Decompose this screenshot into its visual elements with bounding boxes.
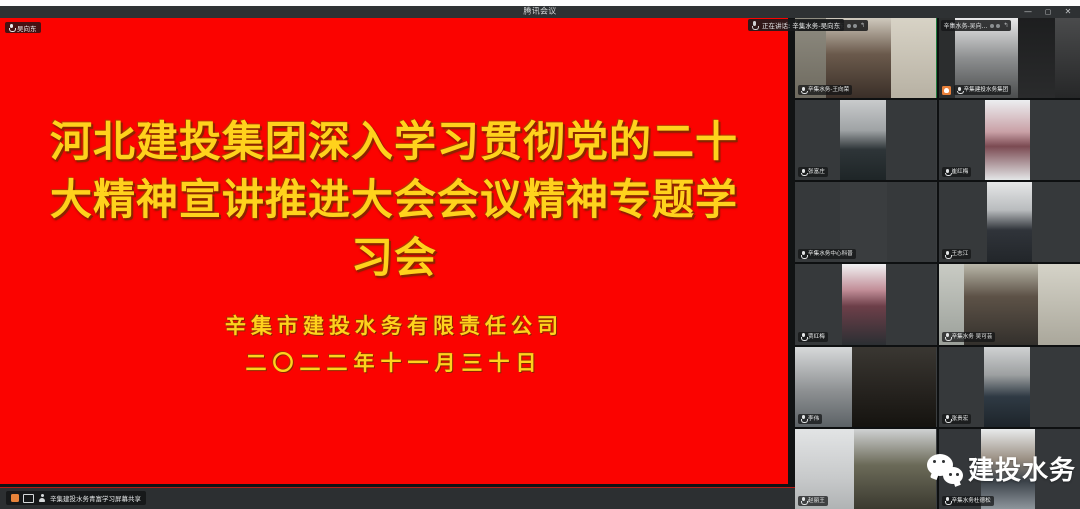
participant-tile[interactable]: 辛集水务中心科普 — [795, 182, 937, 262]
maximize-button[interactable]: ▢ — [1038, 6, 1058, 18]
microphone-icon — [801, 333, 806, 340]
title-bar: 腾讯会议 — [0, 6, 1080, 18]
microphone-icon — [945, 251, 950, 258]
app-title: 腾讯会议 — [523, 6, 556, 18]
participant-name-chip: 辛集水务-王向荣 — [798, 85, 852, 95]
microphone-icon — [945, 415, 950, 422]
more-options-icon[interactable] — [990, 24, 1000, 28]
slide-organization: 辛集市建投水务有限责任公司 — [44, 309, 744, 344]
participant-name: 赵丽王 — [808, 496, 825, 506]
participant-name-chip: 贾红梅 — [798, 332, 828, 342]
participant-tile[interactable]: 辛集水务 吴可芸 — [939, 264, 1080, 344]
participant-name-chip: 李伟 — [798, 414, 822, 424]
microphone-icon — [801, 251, 806, 258]
presenter-chip: 吴向东 — [5, 22, 41, 33]
screen-icon — [23, 494, 34, 503]
participant-name: 辛集水务-王向荣 — [808, 85, 849, 95]
participant-name: 李伟 — [808, 414, 819, 424]
stage-divider — [0, 487, 795, 488]
orange-square-icon — [11, 494, 19, 502]
participant-tile[interactable]: 王志江 — [939, 182, 1080, 262]
participant-grid: 辛集水务-王向荣 辛集水务-吴向东 ↰ 辛集建投水务集团 辛集水务-吴向... — [795, 18, 1080, 509]
participant-name: 张贵宏 — [952, 414, 969, 424]
speaking-mic-icon — [752, 21, 758, 29]
microphone-icon — [801, 497, 806, 504]
bottom-status-bar: 辛集建投水务青富学习屏幕共享 — [0, 487, 795, 509]
microphone-icon — [945, 169, 950, 176]
participant-name-chip: 张贵宏 — [942, 414, 972, 424]
slide-body: 河北建投集团深入学习贯彻党的二十大精神宣讲推进大会会议精神专题学习会 辛集市建投… — [0, 18, 788, 484]
participant-name-chip: 辛集水务中心科普 — [798, 249, 856, 259]
more-options-icon[interactable] — [847, 24, 857, 28]
participant-name: 辛集水务 吴可芸 — [952, 332, 993, 342]
microphone-icon — [945, 497, 950, 504]
shared-screen-stage[interactable]: 河北建投集团深入学习贯彻党的二十大精神宣讲推进大会会议精神专题学习会 辛集市建投… — [0, 18, 795, 487]
microphone-icon — [945, 333, 950, 340]
microphone-icon — [957, 87, 962, 94]
participant-name: 贾红梅 — [808, 332, 825, 342]
collapse-icon[interactable]: ↰ — [1003, 22, 1008, 29]
participant-tile[interactable]: 张贵宏 — [939, 347, 1080, 427]
presentation-slide: 河北建投集团深入学习贯彻党的二十大精神宣讲推进大会会议精神专题学习会 辛集市建投… — [0, 18, 788, 484]
participant-name-chip: 崔红梅 — [942, 167, 972, 177]
participant-name: 王志江 — [952, 249, 969, 259]
speaking-banner: 正在讲话: 辛集水务-吴向东 — [748, 19, 844, 31]
participant-tile[interactable]: 贾红梅 — [795, 264, 937, 344]
window-controls: — ▢ ✕ — [1018, 6, 1078, 18]
tile-header-text: 辛集水务-吴向... — [944, 21, 988, 30]
participant-name-chip: 赵丽王 — [798, 496, 828, 506]
participant-name-chip: 王志江 — [942, 249, 972, 259]
slide-date: 二〇二二年十一月三十日 — [44, 346, 744, 381]
participant-tile[interactable]: 李伟 — [795, 347, 937, 427]
participant-tile[interactable]: 崔红梅 — [939, 100, 1080, 180]
host-badge-icon — [942, 86, 951, 95]
participant-tile[interactable]: 辛集建投水务集团 辛集水务-吴向... ↰ — [939, 18, 1080, 98]
close-button[interactable]: ✕ — [1058, 6, 1078, 18]
participant-name: 辛集建投水务集团 — [964, 85, 1009, 95]
participant-tile[interactable]: 张富庄 — [795, 100, 937, 180]
screen-share-text: 辛集建投水务青富学习屏幕共享 — [50, 493, 141, 503]
collapse-icon[interactable]: ↰ — [860, 22, 865, 29]
participant-name: 辛集水务中心科普 — [808, 249, 853, 259]
person-icon — [38, 494, 46, 502]
participant-name-chip: 辛集水务杜德松 — [942, 496, 994, 506]
microphone-icon — [9, 24, 14, 31]
participant-name-chip: 张富庄 — [798, 167, 828, 177]
tencent-meeting-window: 腾讯会议 — ▢ ✕ 河北建投集团深入学习贯彻党的二十大精神宣讲推进大会会议精神… — [0, 0, 1080, 509]
presenter-name: 吴向东 — [17, 23, 37, 33]
participant-name: 张富庄 — [808, 167, 825, 177]
participant-tile[interactable]: 赵丽王 — [795, 429, 937, 509]
microphone-icon — [801, 87, 806, 94]
microphone-icon — [801, 169, 806, 176]
tile-header: 辛集水务-吴向... ↰ — [941, 20, 1012, 31]
screen-share-indicator[interactable]: 辛集建投水务青富学习屏幕共享 — [6, 491, 146, 505]
participant-name-chip: 辛集建投水务集团 — [954, 85, 1012, 95]
participant-name: 辛集水务杜德松 — [952, 496, 991, 506]
minimize-button[interactable]: — — [1018, 6, 1038, 18]
slide-title: 河北建投集团深入学习贯彻党的二十大精神宣讲推进大会会议精神专题学习会 — [29, 113, 759, 287]
participant-name-chip: 辛集水务 吴可芸 — [942, 332, 996, 342]
participant-name: 崔红梅 — [952, 167, 969, 177]
microphone-icon — [801, 415, 806, 422]
participant-tile[interactable]: 辛集水务杜德松 — [939, 429, 1080, 509]
speaking-banner-text: 正在讲话: 辛集水务-吴向东 — [762, 20, 840, 30]
